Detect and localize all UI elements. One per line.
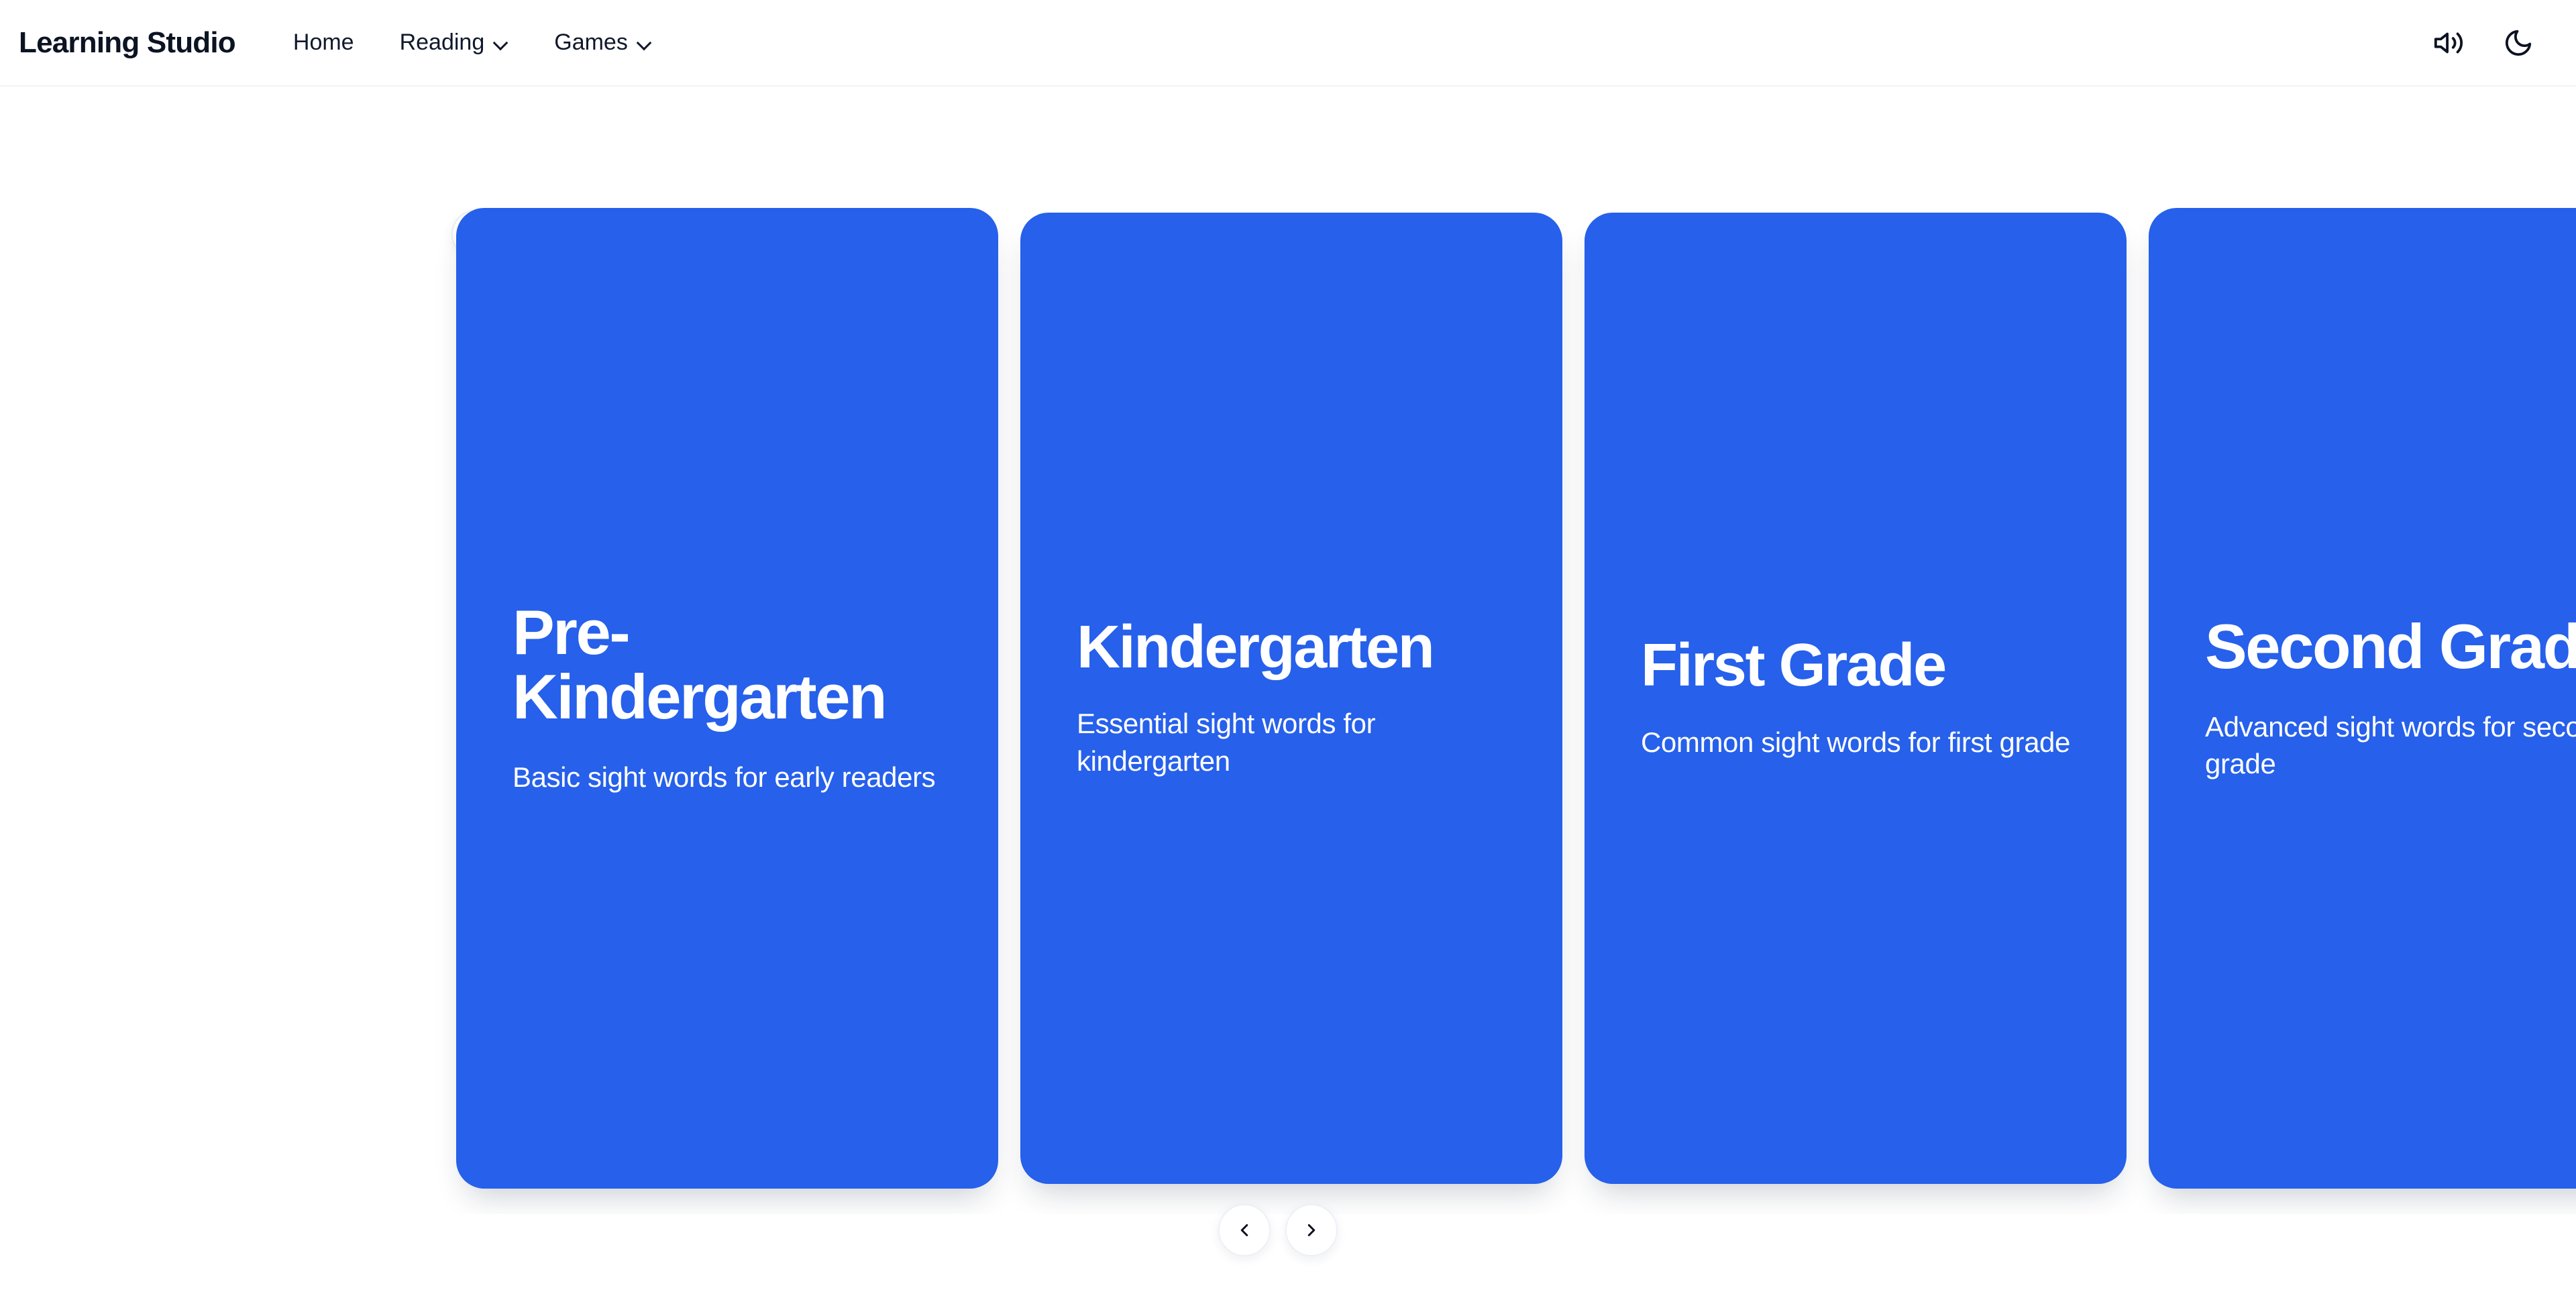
grade-card-description: Basic sight words for early readers (513, 759, 942, 796)
grade-card-description: Common sight words for first grade (1641, 724, 2070, 761)
main-content: Back to Instructions Pre-Kindergarten Ba… (0, 87, 2576, 1308)
grade-carousel: Pre-Kindergarten Basic sight words for e… (0, 208, 2576, 1214)
grade-card-second-grade[interactable]: Second Grade Advanced sight words for se… (2149, 208, 2576, 1189)
grade-card-description: Essential sight words for kindergarten (1077, 705, 1506, 779)
grade-card-kindergarten[interactable]: Kindergarten Essential sight words for k… (1020, 213, 1562, 1184)
chevron-down-icon (637, 36, 652, 50)
grade-card-title: First Grade (1641, 635, 2070, 697)
grade-card-title: Second Grade (2205, 614, 2576, 679)
theme-toggle-button[interactable] (2501, 25, 2536, 60)
nav-item-label: Reading (400, 30, 485, 56)
carousel-prev-button[interactable] (1218, 1204, 1271, 1256)
chevron-left-icon (1234, 1220, 1254, 1240)
grade-card-title: Pre-Kindergarten (513, 600, 942, 729)
nav-item-games[interactable]: Games (554, 30, 652, 56)
nav-item-home[interactable]: Home (293, 30, 354, 56)
nav-item-reading[interactable]: Reading (400, 30, 509, 56)
moon-icon (2503, 28, 2534, 58)
carousel-track: Pre-Kindergarten Basic sight words for e… (456, 208, 2576, 1189)
chevron-down-icon (494, 36, 508, 50)
grade-card-description: Advanced sight words for second grade (2205, 708, 2576, 783)
header-actions (2431, 25, 2536, 60)
chevron-right-icon (1301, 1220, 1322, 1240)
carousel-navigation (1218, 1204, 1338, 1256)
carousel-next-button[interactable] (1285, 1204, 1338, 1256)
grade-card-first-grade[interactable]: First Grade Common sight words for first… (1585, 213, 2127, 1184)
brand-logo[interactable]: Learning Studio (19, 26, 235, 60)
sound-toggle-button[interactable] (2431, 25, 2466, 60)
nav-item-label: Games (554, 30, 628, 56)
grade-card-title: Kindergarten (1077, 617, 1506, 679)
main-navigation: Home Reading Games (293, 30, 652, 56)
nav-item-label: Home (293, 30, 354, 56)
app-header: Learning Studio Home Reading Games (0, 0, 2576, 87)
grade-card-pre-kindergarten[interactable]: Pre-Kindergarten Basic sight words for e… (456, 208, 998, 1189)
volume-on-icon (2433, 28, 2464, 58)
